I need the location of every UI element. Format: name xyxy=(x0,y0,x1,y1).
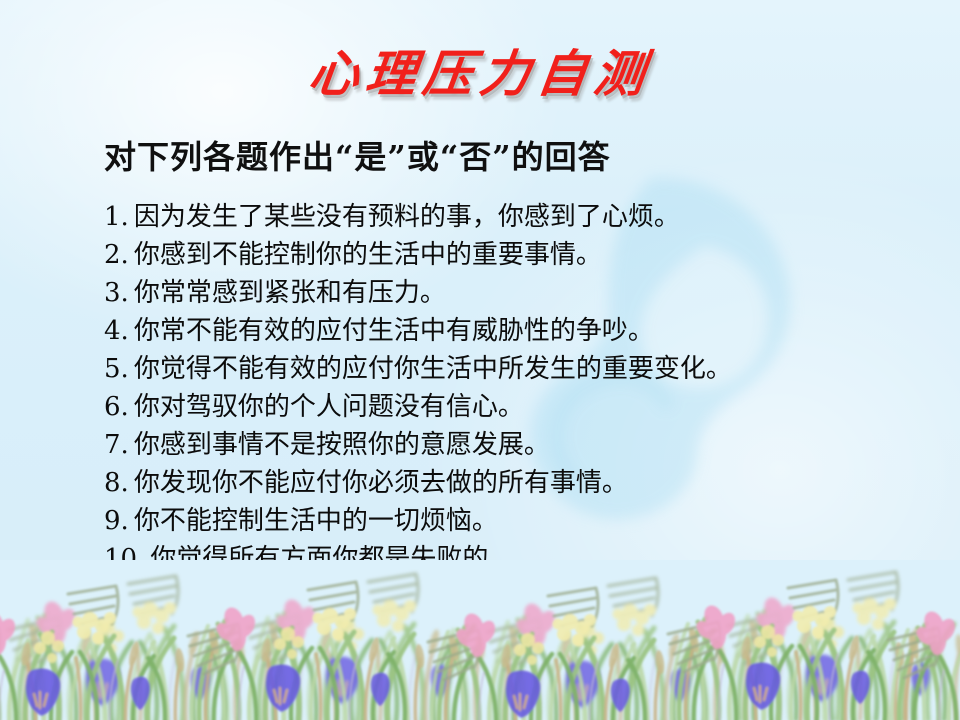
list-item-text: 你发现你不能应付你必须去做的所有事情。 xyxy=(134,464,628,502)
list-item-text: 你觉得所有方面你都是失败的。 xyxy=(150,540,514,578)
list-item: 8. 你发现你不能应付你必须去做的所有事情。 xyxy=(104,464,914,502)
list-item-number: 4. xyxy=(104,312,129,350)
list-item-text: 你常常感到紧张和有压力。 xyxy=(134,274,446,312)
list-item: 9. 你不能控制生活中的一切烦恼。 xyxy=(104,502,914,540)
list-item-text: 你常不能有效的应付生活中有威胁性的争吵。 xyxy=(134,312,654,350)
instruction-subtitle: 对下列各题作出“是”或“否”的回答 xyxy=(104,132,611,178)
list-item-text: 因为发生了某些没有预料的事，你感到了心烦。 xyxy=(134,198,680,236)
list-item-number: 3. xyxy=(104,274,129,312)
list-item: 4. 你常不能有效的应付生活中有威胁性的争吵。 xyxy=(104,312,914,350)
list-item-number: 6. xyxy=(104,388,129,426)
presentation-slide: 心理压力自测 对下列各题作出“是”或“否”的回答 1. 因为发生了某些没有预料的… xyxy=(0,0,960,720)
list-item: 5. 你觉得不能有效的应付你生活中所发生的重要变化。 xyxy=(104,350,914,388)
list-item: 6. 你对驾驭你的个人问题没有信心。 xyxy=(104,388,914,426)
list-item-number: 5. xyxy=(104,350,129,388)
list-item-text: 你感到事情不是按照你的意愿发展。 xyxy=(134,426,550,464)
question-list: 1. 因为发生了某些没有预料的事，你感到了心烦。 2. 你感到不能控制你的生活中… xyxy=(104,198,914,578)
list-item: 3. 你常常感到紧张和有压力。 xyxy=(104,274,914,312)
list-item: 10. 你觉得所有方面你都是失败的。 xyxy=(104,540,914,578)
list-item: 1. 因为发生了某些没有预料的事，你感到了心烦。 xyxy=(104,198,914,236)
list-item-text: 你对驾驭你的个人问题没有信心。 xyxy=(134,388,524,426)
list-item-number: 9. xyxy=(104,502,129,540)
list-item-number: 10. xyxy=(104,540,145,578)
list-item-text: 你感到不能控制你的生活中的重要事情。 xyxy=(134,236,602,274)
list-item-number: 8. xyxy=(104,464,129,502)
list-item-number: 7. xyxy=(104,426,129,464)
list-item-number: 2. xyxy=(104,236,129,274)
list-item: 7. 你感到事情不是按照你的意愿发展。 xyxy=(104,426,914,464)
list-item-text: 你不能控制生活中的一切烦恼。 xyxy=(134,502,498,540)
list-item: 2. 你感到不能控制你的生活中的重要事情。 xyxy=(104,236,914,274)
list-item-number: 1. xyxy=(104,198,129,236)
list-item-text: 你觉得不能有效的应付你生活中所发生的重要变化。 xyxy=(134,350,732,388)
